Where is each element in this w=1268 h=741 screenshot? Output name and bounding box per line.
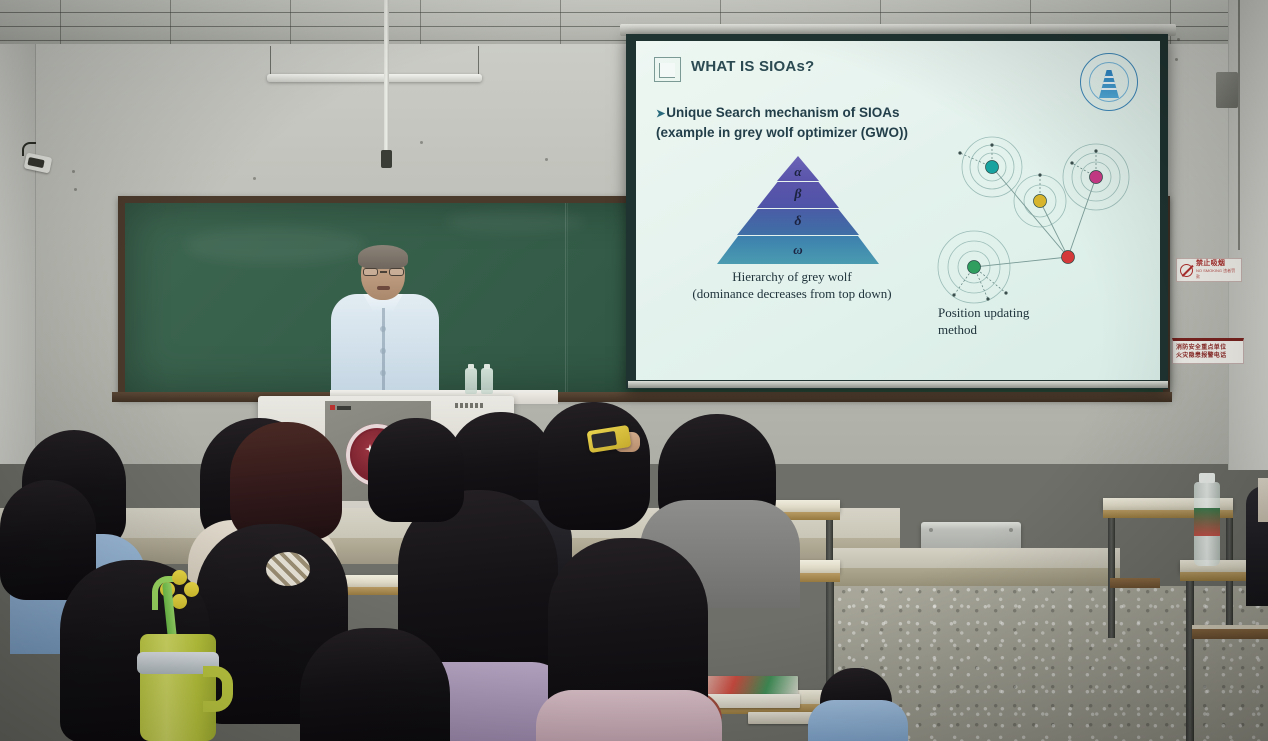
water-bottle-desk-left bbox=[465, 368, 477, 394]
presentation-slide: WHAT IS SIOAs? ➤Unique Search mechanism … bbox=[636, 41, 1160, 380]
pyramid-tier-beta: β bbox=[757, 182, 839, 208]
slide-title-decoration-icon bbox=[654, 57, 681, 82]
screen-bottom-bar bbox=[628, 381, 1168, 388]
presenter-hair bbox=[358, 245, 408, 269]
projection-screen: WHAT IS SIOAs? ➤Unique Search mechanism … bbox=[626, 34, 1168, 389]
no-smoking-title: 禁止吸烟 bbox=[1196, 260, 1238, 267]
lecture-hall-photo: 禁止吸烟 NO SMOKING 违者罚款 消防安全重点单位 火灾隐患报警电话 W… bbox=[0, 0, 1268, 741]
fire-safety-line1: 消防安全重点单位 bbox=[1176, 345, 1226, 351]
ceiling-hanging-pole bbox=[384, 0, 389, 160]
hair-scrunchie bbox=[266, 552, 310, 586]
water-bottle-desk-right bbox=[481, 368, 493, 394]
stage-platform-top-right bbox=[830, 548, 1120, 570]
pyramid-tier-alpha: α bbox=[777, 156, 819, 181]
fire-safety-sign: 消防安全重点单位 火灾隐患报警电话 bbox=[1172, 338, 1244, 364]
no-smoking-subtitle: NO SMOKING 违者罚款 bbox=[1196, 268, 1238, 280]
slide-title: WHAT IS SIOAs? bbox=[691, 58, 814, 75]
wall-cable bbox=[1238, 0, 1240, 250]
pyramid-tier-delta: δ bbox=[737, 209, 859, 235]
fire-safety-line2: 火灾隐患报警电话 bbox=[1176, 353, 1226, 359]
slide-bullet-block: ➤Unique Search mechanism of SIOAs (examp… bbox=[656, 103, 976, 142]
slide-bullet-line1: Unique Search mechanism of SIOAs bbox=[666, 105, 899, 120]
pyramid-tier-omega: ω bbox=[717, 236, 879, 264]
tumbler-handle bbox=[203, 666, 233, 712]
pole-tip bbox=[381, 150, 392, 168]
no-smoking-sign: 禁止吸烟 NO SMOKING 违者罚款 bbox=[1176, 258, 1242, 282]
diagram-caption-line2: method bbox=[938, 322, 1118, 339]
podium-control-label bbox=[330, 404, 360, 411]
grey-wolf-hierarchy-pyramid: α β δ ω bbox=[718, 156, 878, 266]
wall-right-pillar bbox=[1228, 0, 1268, 470]
diagram-caption-line1: Position updating bbox=[938, 305, 1118, 322]
diagram-caption: Position updating method bbox=[938, 305, 1118, 338]
slide-bullet-line2: (example in grey wolf optimizer (GWO)) bbox=[656, 125, 908, 140]
pyramid-caption: Hierarchy of grey wolf (dominance decrea… bbox=[642, 269, 942, 303]
podium-side-label bbox=[455, 403, 483, 408]
water-bottle-on-desk bbox=[1194, 482, 1220, 566]
wall-speaker-box bbox=[1216, 72, 1238, 108]
bullet-arrow-icon: ➤ bbox=[656, 108, 665, 120]
no-smoking-icon bbox=[1180, 264, 1193, 277]
position-updating-diagram bbox=[936, 129, 1152, 319]
pagoda-glyph bbox=[1099, 70, 1119, 98]
university-crest-icon bbox=[1080, 53, 1138, 111]
pyramid-caption-line2: (dominance decreases from top down) bbox=[642, 286, 942, 303]
fluorescent-tube-light bbox=[267, 74, 482, 82]
pyramid-caption-line1: Hierarchy of grey wolf bbox=[642, 269, 942, 286]
straw-topper-flower-icon bbox=[146, 568, 202, 616]
wall-left-pillar bbox=[0, 44, 36, 464]
presenter-glasses-icon bbox=[363, 268, 404, 276]
presenter bbox=[325, 248, 445, 398]
